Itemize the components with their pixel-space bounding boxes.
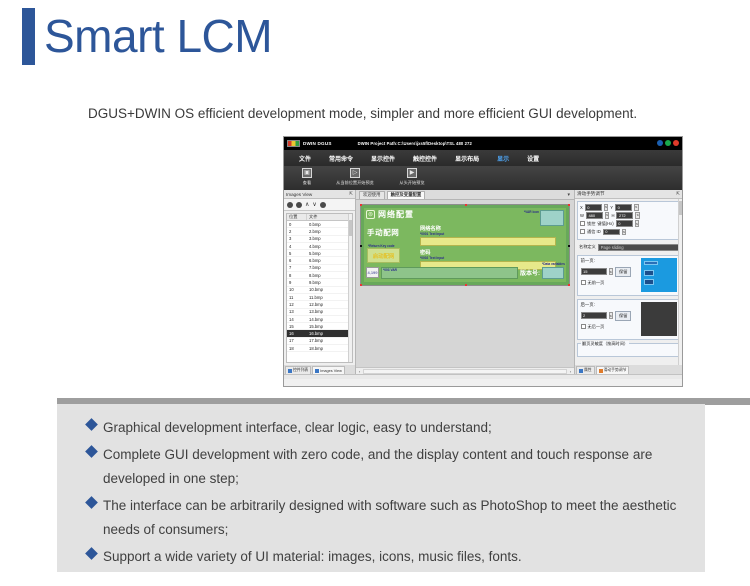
canvas-field1-input[interactable] [420,237,556,246]
canvas-version-label: 版本号: [520,268,540,277]
list-item: The interface can be arbitrarily designe… [87,494,691,542]
table-row[interactable]: 1515.bmp [287,323,352,330]
cell-position: 10 [287,287,307,292]
canvas-top-right-tag: *VAR Icon [524,210,539,214]
page-header: Smart LCM [0,0,750,92]
cell-position: 13 [287,309,307,314]
h-label: H [611,213,614,218]
commid-row: 通信 ID 0 ⇅ [580,229,677,236]
left-panel-tabs: 控件列表 Images View [284,365,355,374]
images-view-panel: Images View ⇱ ∧ ∨ 位置 文件 00.bmp22.bmp33.b… [284,190,356,374]
sensitivity-fieldset: 翻页灵敏度（按高时间） [577,343,680,357]
images-view-toolbar: ∧ ∨ [284,199,355,211]
cell-position: 3 [287,236,307,241]
canvas-header-title: 网络配置 [378,209,414,220]
document-tabs: 欢迎使用 触控及变量配置 ▾ [356,190,574,200]
title-accent-bar [22,8,35,65]
cell-file: 5.bmp [307,251,352,256]
cell-position: 6 [287,258,307,263]
table-row[interactable]: 66.bmp [287,257,352,264]
table-row[interactable]: 1313.bmp [287,309,352,316]
next-page-thumbnail[interactable] [641,302,677,336]
images-table-header: 位置 文件 [287,214,352,221]
intro-paragraph: DGUS+DWIN OS efficient development mode,… [88,103,648,125]
prev-page-none-row: 无前一页 [581,280,638,286]
scroll-track[interactable] [363,369,567,374]
pin-icon[interactable]: ⇱ [349,191,353,197]
table-row[interactable]: 1414.bmp [287,316,352,323]
close-icon[interactable] [673,140,679,146]
play-step-icon: ▷ [350,168,360,178]
move-down-icon[interactable]: ∨ [312,202,316,208]
cell-file: 15.bmp [307,324,352,329]
xy-row: X 0 ⇅ Y 0 ⇅ [580,204,677,211]
cell-position: 14 [287,317,307,322]
tab-gesture-adjust[interactable]: 滑动手势调节 [596,366,630,374]
canvas-var-bar[interactable]: *003 VAR [381,267,518,279]
selection-handle[interactable] [568,204,570,206]
menu-item-display[interactable]: 显示 [488,154,518,163]
table-row[interactable]: 1010.bmp [287,287,352,294]
table-row[interactable]: 1818.bmp [287,345,352,352]
table-row[interactable]: 99.bmp [287,279,352,286]
ribbon-button-preview-from-start[interactable]: ▶ 从头开始预览 [386,168,438,186]
cell-file: 11.bmp [307,295,352,300]
design-canvas-area[interactable]: ⊚ 网络配置 手动配网 *VAR Icon 网络名称 *0001 Text In… [356,200,574,367]
prev-page-thumbnail[interactable] [641,258,677,292]
selection-handle[interactable] [568,284,570,286]
column-header-file: 文件 [307,214,352,220]
app-name: DWIN DGUS [303,141,332,146]
canvas-start-network-label: 启动配网 [373,252,395,260]
lock-checkbox[interactable] [580,221,585,226]
doc-tab-touch-variable-config[interactable]: 触控及变量配置 [387,191,426,200]
prev-page-input[interactable]: 15 [581,268,607,275]
commid-checkbox[interactable] [580,229,585,234]
lock-label: 锁控 [587,221,595,227]
cell-file: 17.bmp [307,338,352,343]
design-canvas[interactable]: ⊚ 网络配置 手动配网 *VAR Icon 网络名称 *0001 Text In… [360,204,570,286]
commid-stepper[interactable]: ⇅ [622,229,627,236]
tab-control-list[interactable]: 控件列表 [285,366,311,374]
scroll-left-icon[interactable]: ‹ [356,369,363,374]
add-image-icon[interactable] [287,202,293,208]
cell-file: 3.bmp [307,236,352,241]
diamond-bullet-icon [85,496,98,509]
cell-file: 6.bmp [307,258,352,263]
images-view-title: Images View [286,192,312,197]
prev-page-stepper[interactable]: ⇅ [609,268,614,275]
tab-properties[interactable]: 属性 [576,366,595,374]
minimize-icon[interactable] [657,140,663,146]
name-definition-row: 名称定义 Page sliding [579,244,680,251]
canvas-field2-label: 密码 [420,249,430,256]
cell-file: 13.bmp [307,309,352,314]
canvas-number-display[interactable]: 4,199 [366,267,379,278]
table-row[interactable]: 44.bmp [287,243,352,250]
h-input[interactable]: 272 [616,212,633,219]
window-controls [657,140,679,146]
list-icon [288,369,292,373]
cell-file: 0.bmp [307,222,352,227]
canvas-field2-tag: *0002 Text Input [420,256,444,260]
cell-position: 4 [287,244,307,249]
cell-position: 15 [287,324,307,329]
canvas-field1-label: 网络名称 [420,225,441,232]
list-item: Complete GUI development with zero code,… [87,443,691,491]
cell-file: 4.bmp [307,244,352,249]
prev-page-reserve-button[interactable]: 保留 [615,267,631,277]
prev-page-value-row: 15 ⇅ 保留 [581,267,638,277]
table-row[interactable]: 55.bmp [287,250,352,257]
table-row[interactable]: 88.bmp [287,272,352,279]
images-table-scrollbar[interactable] [348,214,352,362]
commid-label: 通信 ID [587,229,601,235]
cell-position: 9 [287,280,307,285]
bullet-box-left-accent [50,398,57,572]
tab-images-view[interactable]: Images View [312,366,345,374]
keycode-input[interactable]: 0 [616,220,633,227]
x-input[interactable]: 0 [585,204,602,211]
column-header-position: 位置 [287,214,307,220]
app-body: Images View ⇱ ∧ ∨ 位置 文件 00.bmp22.bmp33.b… [284,190,682,374]
right-panel-scrollbar[interactable] [678,199,682,365]
w-label: W [580,213,584,218]
images-view-header: Images View ⇱ [284,190,355,199]
remove-image-icon[interactable] [296,202,302,208]
cell-position: 2 [287,229,307,234]
cell-file: 18.bmp [307,346,352,351]
ribbon-label-view: 查看 [303,180,311,186]
selection-handle[interactable] [360,204,362,206]
cell-position: 8 [287,273,307,278]
table-row[interactable]: 1111.bmp [287,294,352,301]
cell-file: 2.bmp [307,229,352,234]
next-page-reserve-button[interactable]: 保留 [615,311,631,321]
canvas-field1-tag: *0001 Text Input [420,232,444,236]
tab-properties-label: 属性 [584,368,592,373]
table-row[interactable]: 00.bmp [287,221,352,228]
prev-page-card: 前一页: 15 ⇅ 保留 无前一页 [577,255,680,296]
menu-item-settings[interactable]: 设置 [518,154,548,163]
move-up-icon[interactable]: ∧ [305,202,309,208]
prev-page-none-label: 无前一页 [588,280,605,286]
cell-file: 8.bmp [307,273,352,278]
table-row[interactable]: 33.bmp [287,236,352,243]
next-page-title: 后一页: [581,302,638,308]
ribbon-label-preview-from-start: 从头开始预览 [399,180,424,186]
selection-handle[interactable] [465,204,467,206]
w-input[interactable]: 480 [586,212,603,219]
next-page-card: 后一页: 2 ⇅ 保留 无后一页 [577,299,680,340]
next-page-none-row: 无后一页 [581,324,638,330]
cell-position: 5 [287,251,307,256]
magnifier-page-icon: ▣ [302,168,312,178]
table-row[interactable]: 1717.bmp [287,338,352,345]
name-definition-input[interactable]: Page sliding [598,244,680,251]
cell-file: 9.bmp [307,280,352,285]
next-page-none-checkbox[interactable] [581,324,586,329]
gesture-properties-panel: 滑动手势调节 ⇱ X 0 ⇅ Y 0 ⇅ W 480 [574,190,682,374]
selection-handle[interactable] [360,245,362,247]
chevron-down-icon[interactable]: ▾ [567,192,570,198]
y-input[interactable]: 0 [615,204,632,211]
diamond-bullet-icon [85,445,98,458]
cell-file: 14.bmp [307,317,352,322]
images-table-body: 00.bmp22.bmp33.bmp44.bmp55.bmp66.bmp77.b… [287,221,352,352]
canvas-panel: 欢迎使用 触控及变量配置 ▾ ⊚ 网络配置 手动配网 *VAR Icon 网络名… [356,190,574,374]
sensitivity-label: 翻页灵敏度（按高时间） [581,341,629,347]
cell-file: 16.bmp [307,331,352,336]
network-icon: ⊚ [366,210,375,219]
canvas-horizontal-scrollbar[interactable]: ‹ › [356,367,574,374]
canvas-version-value-widget[interactable] [542,267,564,279]
menu-item-touch-controls[interactable]: 触控控件 [404,154,446,163]
list-item: Graphical development interface, clear l… [87,416,691,440]
selection-handle[interactable] [465,284,467,286]
w-stepper[interactable]: ⇅ [605,212,610,219]
image-icon [315,369,319,373]
cell-position: 12 [287,302,307,307]
ribbon-button-preview-from-current[interactable]: ▷ 从当前位置开始预览 [329,168,381,186]
selection-handle[interactable] [568,245,570,247]
table-row[interactable]: 77.bmp [287,265,352,272]
diamond-bullet-icon [85,547,98,560]
selection-handle[interactable] [360,284,362,286]
keycode-row: 锁控 键值(Hx) 0 ⇅ [580,220,677,227]
refresh-icon[interactable] [320,202,326,208]
cell-file: 7.bmp [307,265,352,270]
app-menu-bar: 文件 常用命令 显示控件 触控控件 显示布局 显示 设置 [284,150,682,166]
app-title-bar: DWIN DGUS DWIN Project Path:C:\Users\jxs… [284,137,682,150]
next-page-value-row: 2 ⇅ 保留 [581,311,638,321]
dwin-logo-icon [287,140,300,147]
cell-position: 16 [287,331,307,336]
app-ribbon: ▣ 查看 ▷ 从当前位置开始预览 ▶ 从头开始预览 [284,166,682,190]
table-row[interactable]: 22.bmp [287,228,352,235]
properties-icon [579,369,583,373]
menu-item-file[interactable]: 文件 [290,154,320,163]
keycode-stepper[interactable]: ⇅ [635,220,640,227]
keycode-label: 键值(Hx) [597,221,613,227]
menu-item-common-commands[interactable]: 常用命令 [320,154,362,163]
gesture-panel-header: 滑动手势调节 ⇱ [575,190,682,199]
y-stepper[interactable]: ⇅ [634,204,639,211]
ribbon-button-view[interactable]: ▣ 查看 [290,168,324,186]
maximize-icon[interactable] [665,140,671,146]
x-label: X [580,205,583,210]
h-stepper[interactable]: ⇅ [635,212,640,219]
canvas-bottom-row: 4,199 *003 VAR 版本号: *Data variables [366,265,564,280]
next-page-input[interactable]: 2 [581,312,607,319]
commid-input[interactable]: 0 [603,229,620,236]
canvas-var-icon-widget[interactable] [540,210,564,226]
diamond-bullet-icon [85,418,98,431]
list-item-text: Graphical development interface, clear l… [103,416,492,440]
cell-position: 11 [287,295,307,300]
canvas-manual-network-label: 手动配网 [367,227,399,238]
tab-gesture-adjust-label: 滑动手势调节 [604,368,627,373]
scroll-right-icon[interactable]: › [567,369,574,374]
app-status-bar [284,374,682,379]
list-item: Support a wide variety of UI material: i… [87,545,691,569]
tab-images-view-label: Images View [320,369,342,373]
doc-tab-welcome[interactable]: 欢迎使用 [359,191,385,200]
cell-position: 0 [287,222,307,227]
x-stepper[interactable]: ⇅ [604,204,609,211]
bullet-box: Graphical development interface, clear l… [57,404,705,572]
list-item-text: The interface can be arbitrarily designe… [103,494,691,542]
table-row[interactable]: 1616.bmp [287,330,352,337]
page-title: Smart LCM [44,8,272,65]
canvas-header: ⊚ 网络配置 [366,209,414,220]
bullet-list: Graphical development interface, clear l… [87,416,691,572]
prev-page-title: 前一页: [581,258,638,264]
cell-position: 7 [287,265,307,270]
canvas-version-tag: *Data variables [542,262,565,266]
images-table: 位置 文件 00.bmp22.bmp33.bmp44.bmp55.bmp66.b… [286,213,353,363]
list-item-text: Complete GUI development with zero code,… [103,443,691,491]
canvas-start-network-button[interactable]: 启动配网 [367,248,400,263]
menu-item-display-layout[interactable]: 显示布局 [446,154,488,163]
name-definition-label: 名称定义 [579,244,596,250]
y-label: Y [610,205,613,210]
cell-position: 18 [287,346,307,351]
table-row[interactable]: 1212.bmp [287,301,352,308]
menu-item-display-controls[interactable]: 显示控件 [362,154,404,163]
cell-file: 10.bmp [307,287,352,292]
project-path: DWIN Project Path:C:\Users\jxs5f\Desktop… [358,141,472,146]
prev-page-none-checkbox[interactable] [581,280,586,285]
canvas-inner-page: ⊚ 网络配置 手动配网 *VAR Icon 网络名称 *0001 Text In… [364,208,566,282]
tab-control-list-label: 控件列表 [293,368,308,373]
pin-icon[interactable]: ⇱ [676,191,680,197]
wh-row: W 480 ⇅ H 272 ⇅ [580,212,677,219]
play-icon: ▶ [407,168,417,178]
next-page-none-label: 无后一页 [588,324,605,330]
dgus-app-window: DWIN DGUS DWIN Project Path:C:\Users\jxs… [283,136,683,387]
right-panel-tabs: 属性 滑动手势调节 [575,365,682,374]
gesture-panel-body: X 0 ⇅ Y 0 ⇅ W 480 ⇅ H 272 ⇅ [575,199,682,365]
canvas-bar-tag: *003 VAR [383,268,397,272]
ribbon-label-preview-from-current: 从当前位置开始预览 [336,180,374,186]
list-item-text: Support a wide variety of UI material: i… [103,545,522,569]
gesture-icon [599,369,603,373]
cell-position: 17 [287,338,307,343]
geometry-group: X 0 ⇅ Y 0 ⇅ W 480 ⇅ H 272 ⇅ [577,201,680,240]
next-page-stepper[interactable]: ⇅ [609,312,614,319]
cell-file: 12.bmp [307,302,352,307]
gesture-panel-title: 滑动手势调节 [577,191,605,197]
